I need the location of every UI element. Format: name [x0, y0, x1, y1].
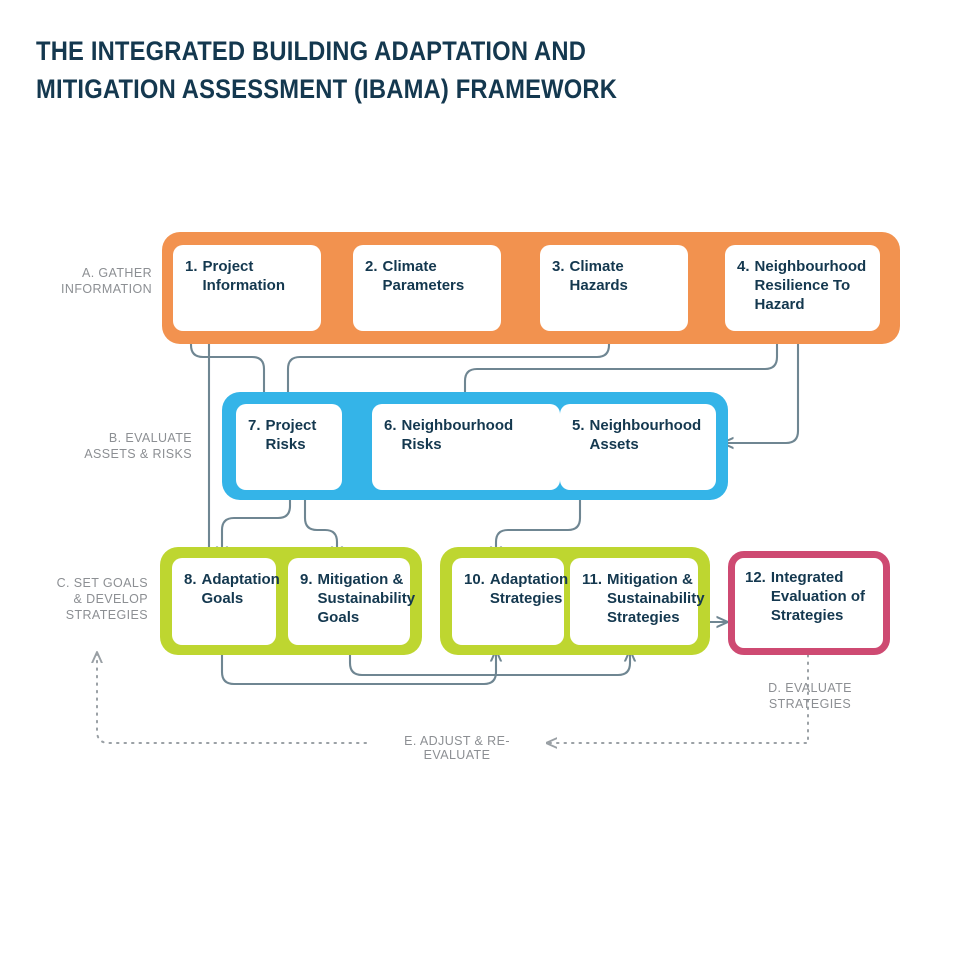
node-1-project-information[interactable]: 1. Project Information: [173, 245, 321, 331]
node-6-label: Neighbourhood Risks: [402, 416, 550, 454]
edge-4-to-5: [722, 331, 798, 443]
node-4-number: 4.: [737, 257, 750, 276]
edge-1-to-8-seg: [209, 331, 221, 568]
diagram-canvas: THE INTEGRATED BUILDING ADAPTATION AND M…: [0, 0, 960, 960]
stage-label-e: E. ADJUST & RE-EVALUATE: [368, 734, 546, 762]
node-9-number: 9.: [300, 570, 313, 589]
node-6-number: 6.: [384, 416, 397, 435]
node-4-label: Neighbourhood Resilience To Hazard: [755, 257, 870, 314]
node-3-number: 3.: [552, 257, 565, 276]
node-4-neighbourhood-resilience-to-hazard[interactable]: 4. Neighbourhood Resilience To Hazard: [725, 245, 880, 331]
page-title: THE INTEGRATED BUILDING ADAPTATION AND M…: [36, 32, 634, 108]
node-7-project-risks[interactable]: 7. Project Risks: [236, 404, 342, 490]
node-12-label: Integrated Evaluation of Strategies: [771, 568, 875, 625]
stage-label-d: D. EVALUATE STRATEGIES: [752, 680, 868, 712]
node-3-climate-hazards[interactable]: 3. Climate Hazards: [540, 245, 688, 331]
node-8-label: Adaptation Goals: [202, 570, 280, 608]
node-2-climate-parameters[interactable]: 2. Climate Parameters: [353, 245, 501, 331]
node-10-label: Adaptation Strategies: [490, 570, 568, 608]
node-7-number: 7.: [248, 416, 261, 435]
node-7-label: Project Risks: [266, 416, 332, 454]
node-2-label: Climate Parameters: [383, 257, 491, 295]
node-1-label: Project Information: [203, 257, 311, 295]
node-10-adaptation-strategies[interactable]: 10. Adaptation Strategies: [452, 558, 564, 645]
stage-label-b: B. EVALUATE ASSETS & RISKS: [62, 430, 192, 462]
node-8-number: 8.: [184, 570, 197, 589]
edge-adjust-to-stage-c: [97, 652, 366, 743]
node-12-integrated-evaluation-of-strategies[interactable]: 12. Integrated Evaluation of Strategies: [728, 551, 890, 655]
stage-label-c: C. SET GOALS & DEVELOP STRATEGIES: [30, 575, 148, 623]
node-9-label: Mitigation & Sustainability Goals: [318, 570, 416, 627]
node-2-number: 2.: [365, 257, 378, 276]
node-3-label: Climate Hazards: [570, 257, 678, 295]
node-11-label: Mitigation & Sustainability Strategies: [607, 570, 705, 627]
node-12-number: 12.: [745, 568, 766, 587]
node-5-number: 5.: [572, 416, 585, 435]
node-5-label: Neighbourhood Assets: [590, 416, 706, 454]
node-1-number: 1.: [185, 257, 198, 276]
node-10-number: 10.: [464, 570, 485, 589]
node-11-mitigation-sustainability-strategies[interactable]: 11. Mitigation & Sustainability Strategi…: [570, 558, 698, 645]
node-11-number: 11.: [582, 570, 602, 589]
node-9-mitigation-sustainability-goals[interactable]: 9. Mitigation & Sustainability Goals: [288, 558, 410, 645]
stage-label-a: A. GATHER INFORMATION: [40, 265, 152, 297]
node-6-neighbourhood-risks[interactable]: 6. Neighbourhood Risks: [372, 404, 560, 490]
node-8-adaptation-goals[interactable]: 8. Adaptation Goals: [172, 558, 276, 645]
node-5-neighbourhood-assets[interactable]: 5. Neighbourhood Assets: [560, 404, 716, 490]
